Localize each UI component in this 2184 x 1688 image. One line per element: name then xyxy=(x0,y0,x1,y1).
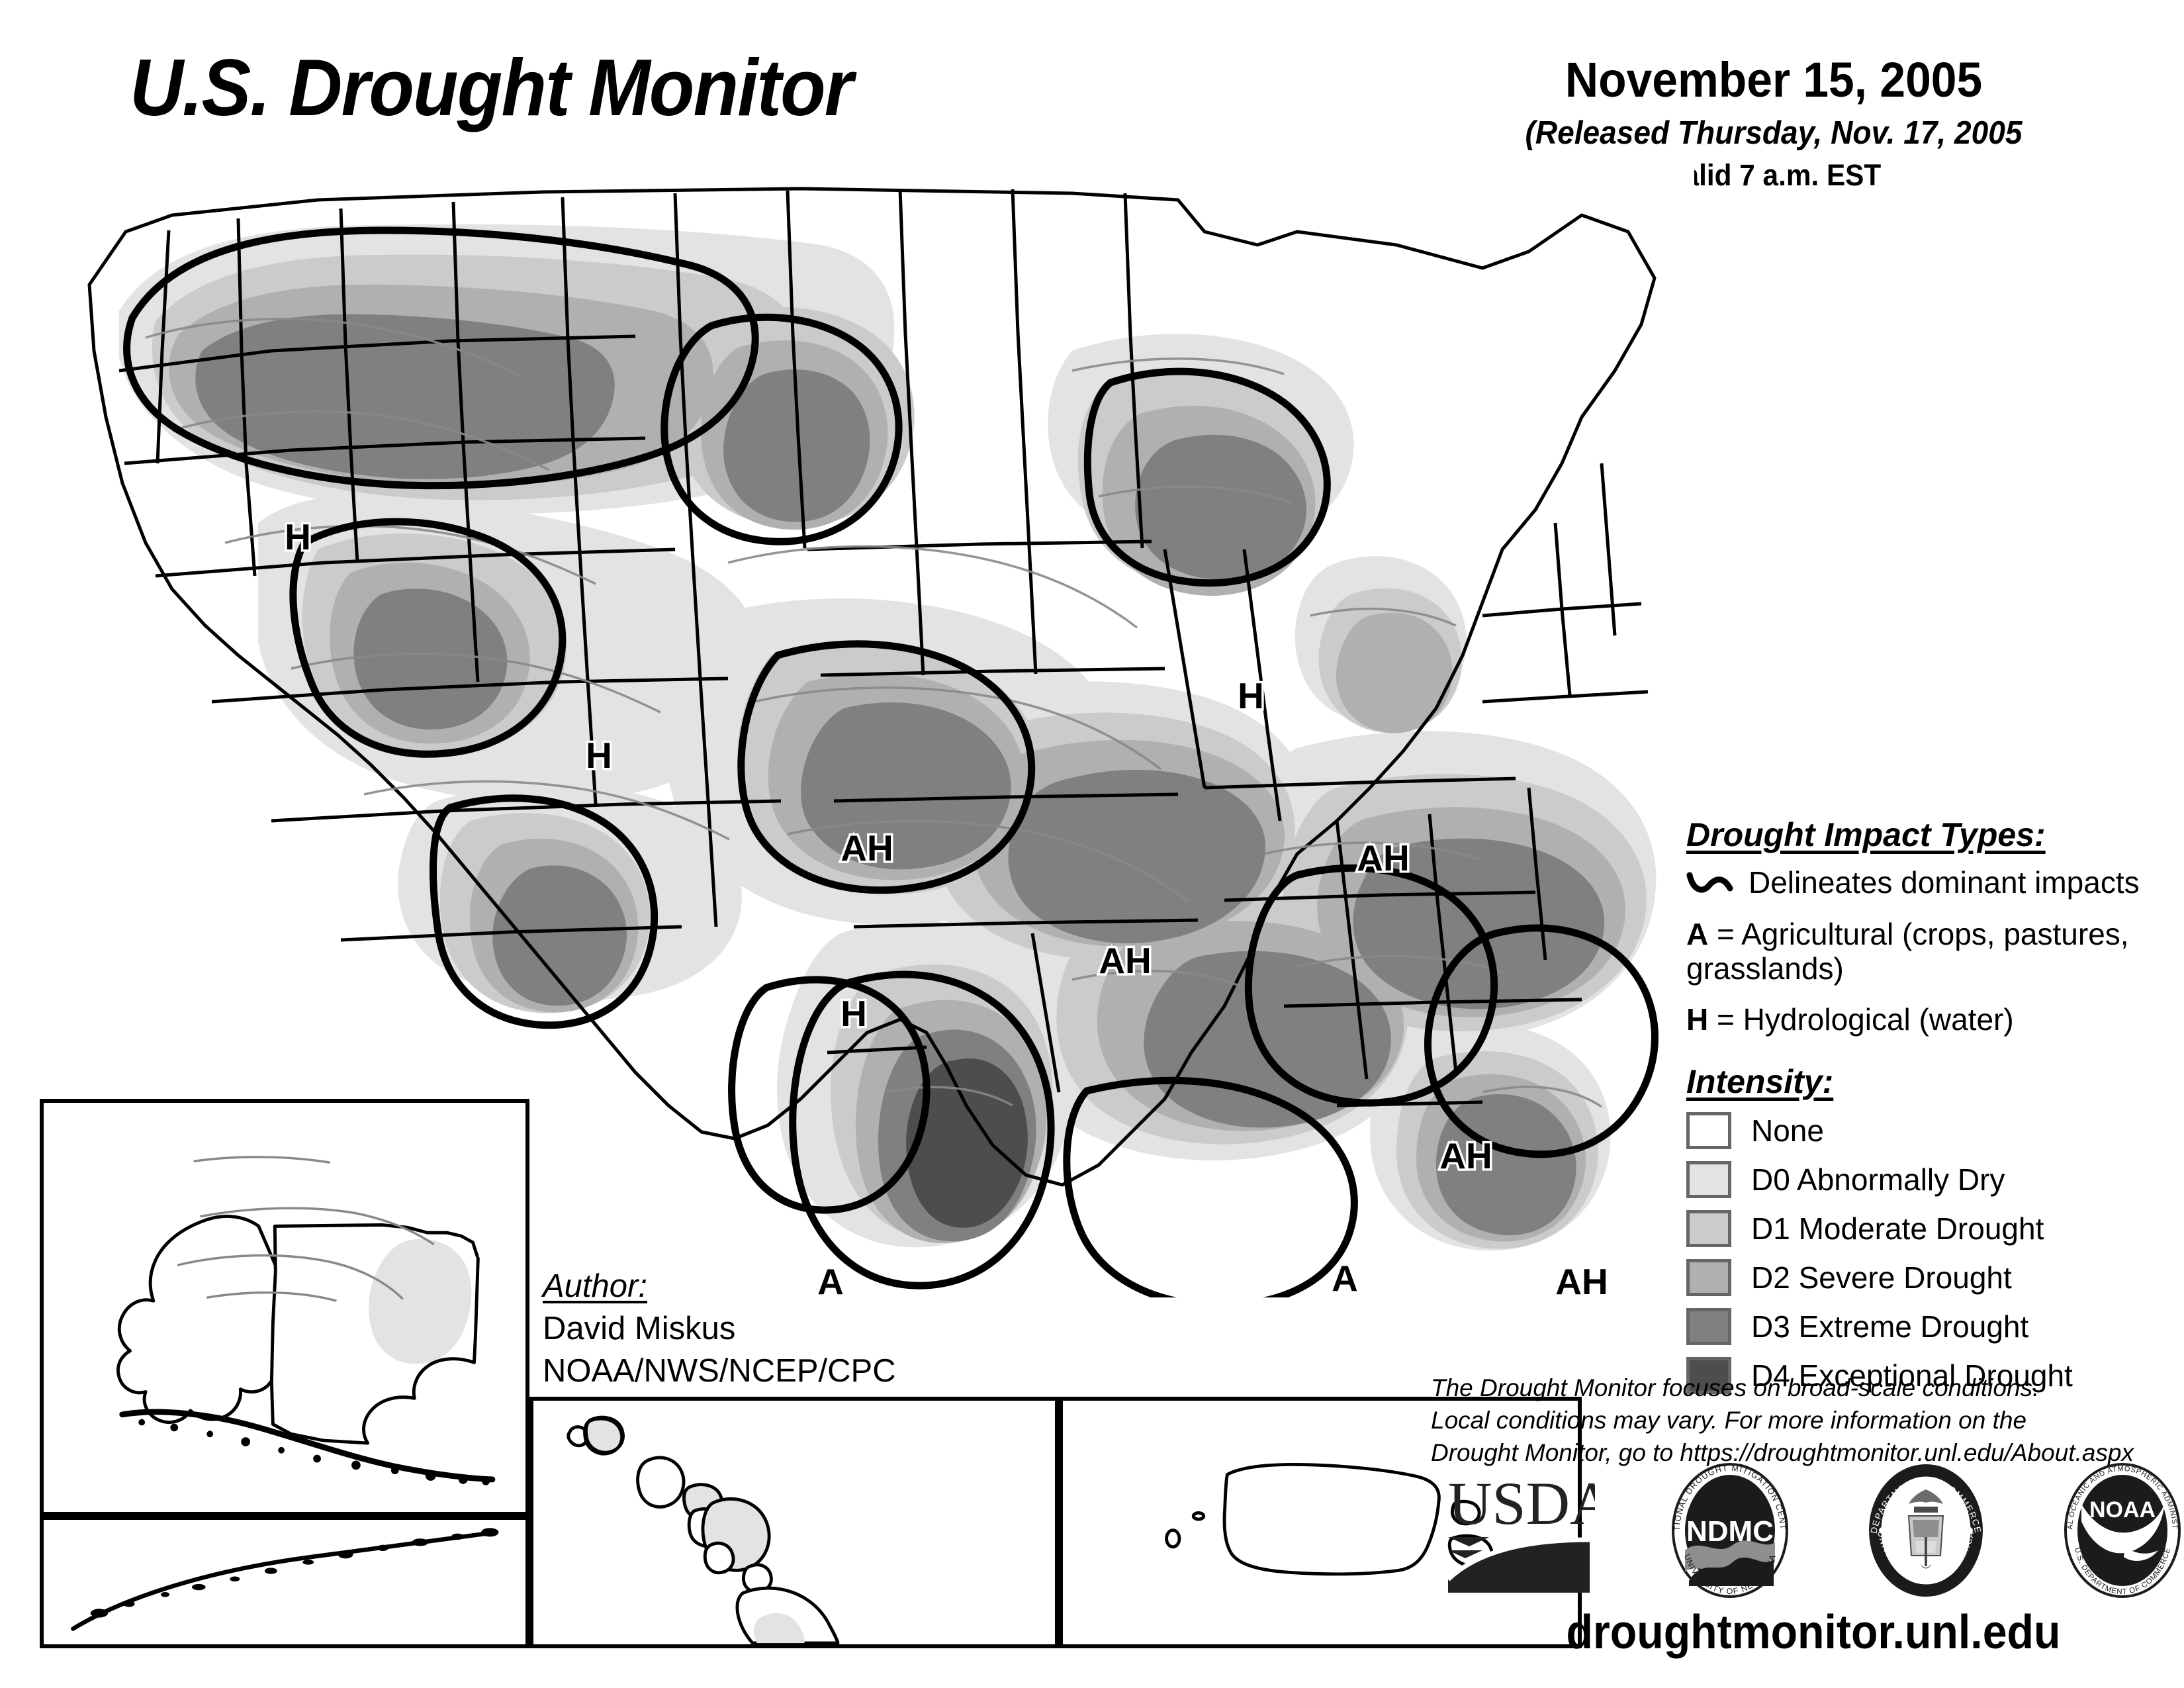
logo-row: USDA NDMC NATIONAL DROUGHT MITIGATION CE… xyxy=(1443,1460,2184,1602)
intensity-swatch-0 xyxy=(1686,1112,1731,1149)
hydrological-definition: H = Hydrological (water) xyxy=(1686,1003,2176,1037)
released-date: (Released Thursday, Nov. 17, 2005 xyxy=(1463,115,2085,152)
wave-icon xyxy=(1686,867,1738,898)
intensity-row-2[interactable]: D1 Moderate Drought xyxy=(1686,1204,2176,1253)
hydrological-text: = Hydrological (water) xyxy=(1708,1002,2013,1037)
impact-label-northern-wisconsin: H xyxy=(1238,675,1264,716)
intensity-label-3: D2 Severe Drought xyxy=(1751,1260,2012,1295)
page-title: U.S. Drought Monitor xyxy=(130,41,852,134)
intensity-swatch-1 xyxy=(1686,1161,1731,1198)
agricultural-text: = Agricultural (crops, pastures, grassla… xyxy=(1686,917,2129,986)
author-block: Author: David Miskus NOAA/NWS/NCEP/CPC xyxy=(543,1268,896,1389)
usda-wordmark: USDA xyxy=(1448,1470,1595,1537)
impact-label-michigan: AH xyxy=(1357,837,1409,878)
intensity-list: NoneD0 Abnormally DryD1 Moderate Drought… xyxy=(1686,1106,2176,1400)
impact-types-heading: Drought Impact Types: xyxy=(1686,816,2176,854)
hawaii-islands xyxy=(569,1417,838,1643)
ndmc-wordmark: NDMC xyxy=(1686,1515,1774,1548)
noaa-logo: NOAA NATIONAL OCEANIC AND ATMOSPHERIC AD… xyxy=(2062,1463,2184,1599)
disclaimer-line-1: The Drought Monitor focuses on broad-sca… xyxy=(1431,1372,2179,1404)
hawaii-inset[interactable] xyxy=(529,1397,1059,1648)
alaska-mainland xyxy=(118,1216,278,1422)
impact-label-montana-wyoming: H xyxy=(586,735,612,776)
aleutian-arc xyxy=(73,1532,496,1629)
intensity-swatch-2 xyxy=(1686,1210,1731,1247)
wave-legend-label: Delineates dominant impacts xyxy=(1749,865,2140,900)
intensity-swatch-4 xyxy=(1686,1308,1731,1345)
website-url[interactable]: droughtmonitor.unl.edu xyxy=(1473,1605,2154,1660)
intensity-row-3[interactable]: D2 Severe Drought xyxy=(1686,1253,2176,1302)
noaa-wordmark: NOAA xyxy=(2089,1497,2156,1523)
disclaimer-line-2: Local conditions may vary. For more info… xyxy=(1431,1404,2179,1436)
alaska-inset[interactable] xyxy=(40,1099,529,1516)
ndmc-logo: NDMC NATIONAL DROUGHT MITIGATION CENTER … xyxy=(1669,1463,1792,1599)
author-name: David Miskus xyxy=(543,1310,896,1347)
intensity-heading: Intensity: xyxy=(1686,1062,2176,1101)
impact-label-tennessee: A xyxy=(1332,1258,1358,1297)
intensity-swatch-3 xyxy=(1686,1259,1731,1296)
disclaimer-text: The Drought Monitor focuses on broad-sca… xyxy=(1431,1372,2179,1470)
intensity-row-4[interactable]: D3 Extreme Drought xyxy=(1686,1302,2176,1351)
valid-date: November 15, 2005 xyxy=(1463,52,2085,108)
impact-label-carolinas: AH xyxy=(1555,1261,1608,1297)
wave-legend-row: Delineates dominant impacts xyxy=(1686,865,2176,900)
impact-label-central-rockies: H xyxy=(841,993,867,1034)
doc-seal: DEPARTMENT OF COMMERCE UNITED STATES OF … xyxy=(1865,1463,1987,1599)
aleutian-inset[interactable] xyxy=(40,1516,529,1648)
impact-label-pacific-northwest: H xyxy=(285,516,311,557)
hydrological-key: H xyxy=(1686,1002,1708,1037)
author-affiliation: NOAA/NWS/NCEP/CPC xyxy=(543,1352,896,1389)
intensity-label-4: D3 Extreme Drought xyxy=(1751,1309,2028,1344)
impact-label-dakotas: AH xyxy=(841,827,893,868)
impact-label-kentucky-west-virginia: AH xyxy=(1439,1135,1492,1176)
intensity-label-1: D0 Abnormally Dry xyxy=(1751,1162,2005,1197)
author-heading: Author: xyxy=(543,1268,896,1305)
intensity-label-2: D1 Moderate Drought xyxy=(1751,1211,2044,1246)
intensity-row-1[interactable]: D0 Abnormally Dry xyxy=(1686,1155,2176,1204)
agricultural-key: A xyxy=(1686,917,1708,951)
usda-logo: USDA xyxy=(1443,1463,1595,1599)
intensity-row-0[interactable]: None xyxy=(1686,1106,2176,1155)
intensity-label-0: None xyxy=(1751,1113,1824,1149)
agricultural-definition: A = Agricultural (crops, pastures, grass… xyxy=(1686,917,2176,986)
legend-panel: Drought Impact Types: Delineates dominan… xyxy=(1686,816,2176,1400)
impact-label-iowa-illinois: AH xyxy=(1099,940,1151,981)
